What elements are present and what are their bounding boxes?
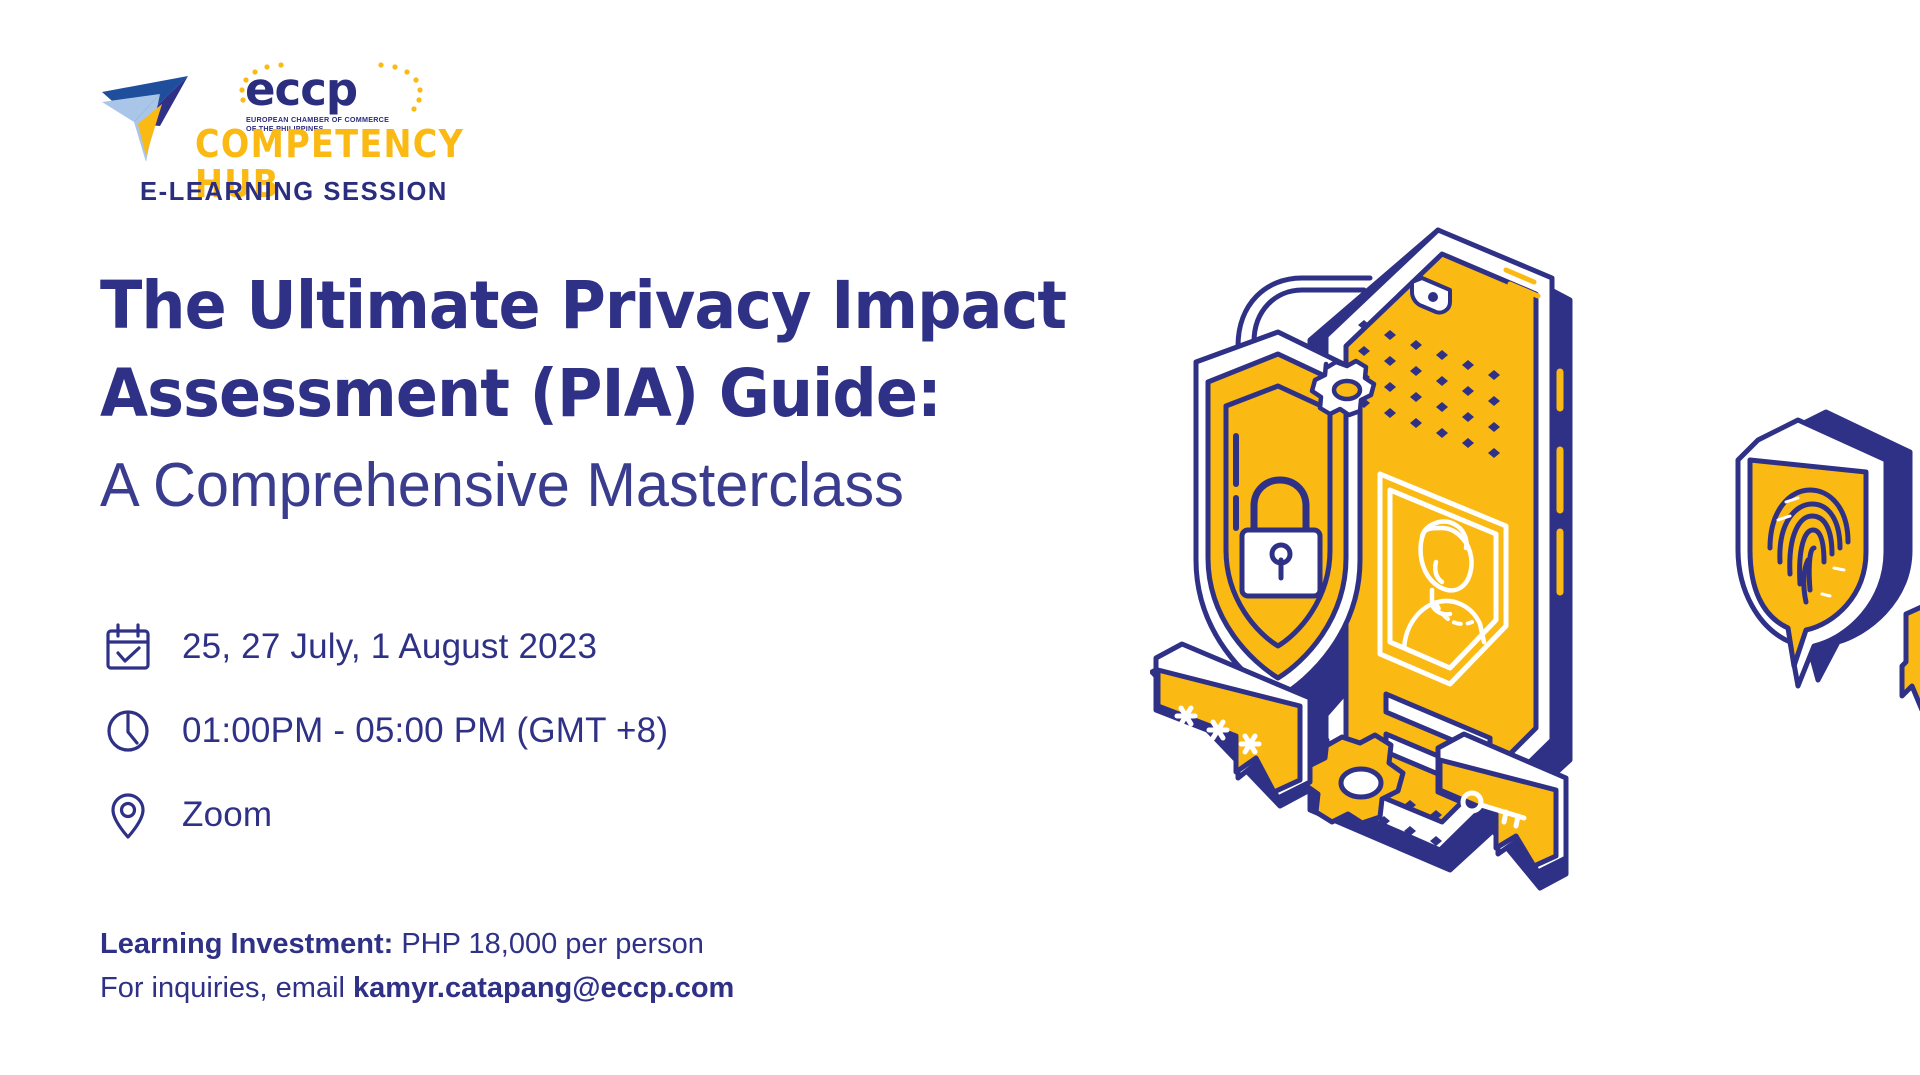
location-pin-icon [100, 787, 156, 843]
inquiries-prefix: For inquiries, email [100, 972, 345, 1004]
session-label: E-LEARNING SESSION [140, 178, 448, 207]
eccp-wordmark: eccp [245, 66, 357, 114]
footer-inquiries-line: For inquiries, email kamyr.catapang@eccp… [100, 966, 734, 1010]
title-subtitle: A Comprehensive Masterclass [100, 438, 1108, 534]
title-line-1: The Ultimate Privacy Impact [100, 262, 1087, 350]
detail-row-location: Zoom [100, 773, 668, 857]
clock-icon [100, 703, 156, 759]
edge-speech-bubble [1902, 602, 1920, 712]
fingerprint-speech-bubble [1738, 412, 1910, 686]
title-line-2: Assessment (PIA) Guide: [100, 350, 1087, 438]
detail-text-date: 25, 27 July, 1 August 2023 [182, 627, 597, 667]
detail-text-location: Zoom [182, 795, 272, 835]
investment-label: Learning Investment: [100, 928, 393, 960]
event-details: 25, 27 July, 1 August 2023 01:00PM - 05:… [100, 605, 668, 857]
poster-canvas: eccp EUROPEAN CHAMBER OF COMMERCE OF THE… [0, 0, 1920, 1075]
privacy-illustration [1150, 150, 1920, 910]
logo-row: eccp EUROPEAN CHAMBER OF COMMERCE OF THE… [100, 60, 520, 148]
footer-investment-line: Learning Investment: PHP 18,000 per pers… [100, 922, 734, 966]
detail-text-time: 01:00PM - 05:00 PM (GMT +8) [182, 711, 668, 751]
detail-row-date: 25, 27 July, 1 August 2023 [100, 605, 668, 689]
detail-row-time: 01:00PM - 05:00 PM (GMT +8) [100, 689, 668, 773]
calendar-check-icon [100, 619, 156, 675]
page-title: The Ultimate Privacy Impact Assessment (… [100, 262, 1150, 534]
investment-value: PHP 18,000 per person [401, 928, 704, 960]
contact-email[interactable]: kamyr.catapang@eccp.com [353, 972, 734, 1004]
brand-logo-block: eccp EUROPEAN CHAMBER OF COMMERCE OF THE… [100, 60, 520, 190]
footer-info: Learning Investment: PHP 18,000 per pers… [100, 922, 734, 1010]
